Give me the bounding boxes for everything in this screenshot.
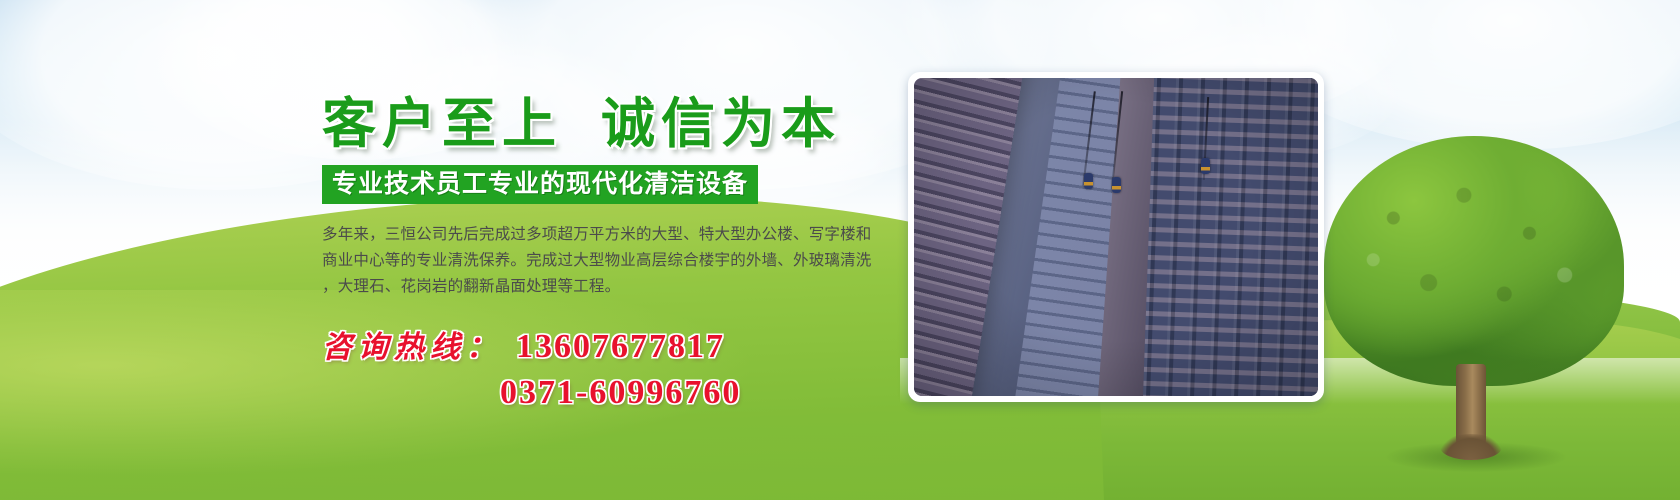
promo-banner: 客户至上 诚信为本 专业技术员工专业的现代化清洁设备 多年来，三恒公司先后完成过… bbox=[0, 0, 1680, 500]
subtitle-bar: 专业技术员工专业的现代化清洁设备 bbox=[322, 165, 758, 205]
description-paragraph: 多年来，三恒公司先后完成过多项超万平方米的大型、特大型办公楼、写字楼和 商业中心… bbox=[322, 222, 882, 300]
hotline-landline-number[interactable]: 0371-60996760 bbox=[322, 374, 902, 412]
building-photo bbox=[914, 78, 1318, 396]
building-photo-frame bbox=[908, 72, 1324, 402]
photo-vignette bbox=[914, 78, 1318, 396]
hotline-mobile-number[interactable]: 13607677817 bbox=[516, 328, 725, 365]
description-line-1: 多年来，三恒公司先后完成过多项超万平方米的大型、特大型办公楼、写字楼和 bbox=[322, 222, 882, 248]
tree-trunk bbox=[1456, 364, 1486, 460]
description-line-2: 商业中心等的专业清洗保养。完成过大型物业高层综合楼宇的外墙、外玻璃清洗 bbox=[322, 248, 882, 274]
hotline-label: 咨询热线： bbox=[322, 331, 502, 364]
banner-copy: 客户至上 诚信为本 专业技术员工专业的现代化清洁设备 多年来，三恒公司先后完成过… bbox=[322, 96, 902, 412]
hotline-row: 咨询热线：13607677817 bbox=[322, 322, 902, 366]
description-line-3: ，大理石、花岗岩的翻新晶面处理等工程。 bbox=[322, 274, 882, 300]
tree-canopy bbox=[1324, 136, 1624, 386]
headline: 客户至上 诚信为本 bbox=[322, 96, 902, 153]
tree-illustration bbox=[1324, 136, 1624, 466]
